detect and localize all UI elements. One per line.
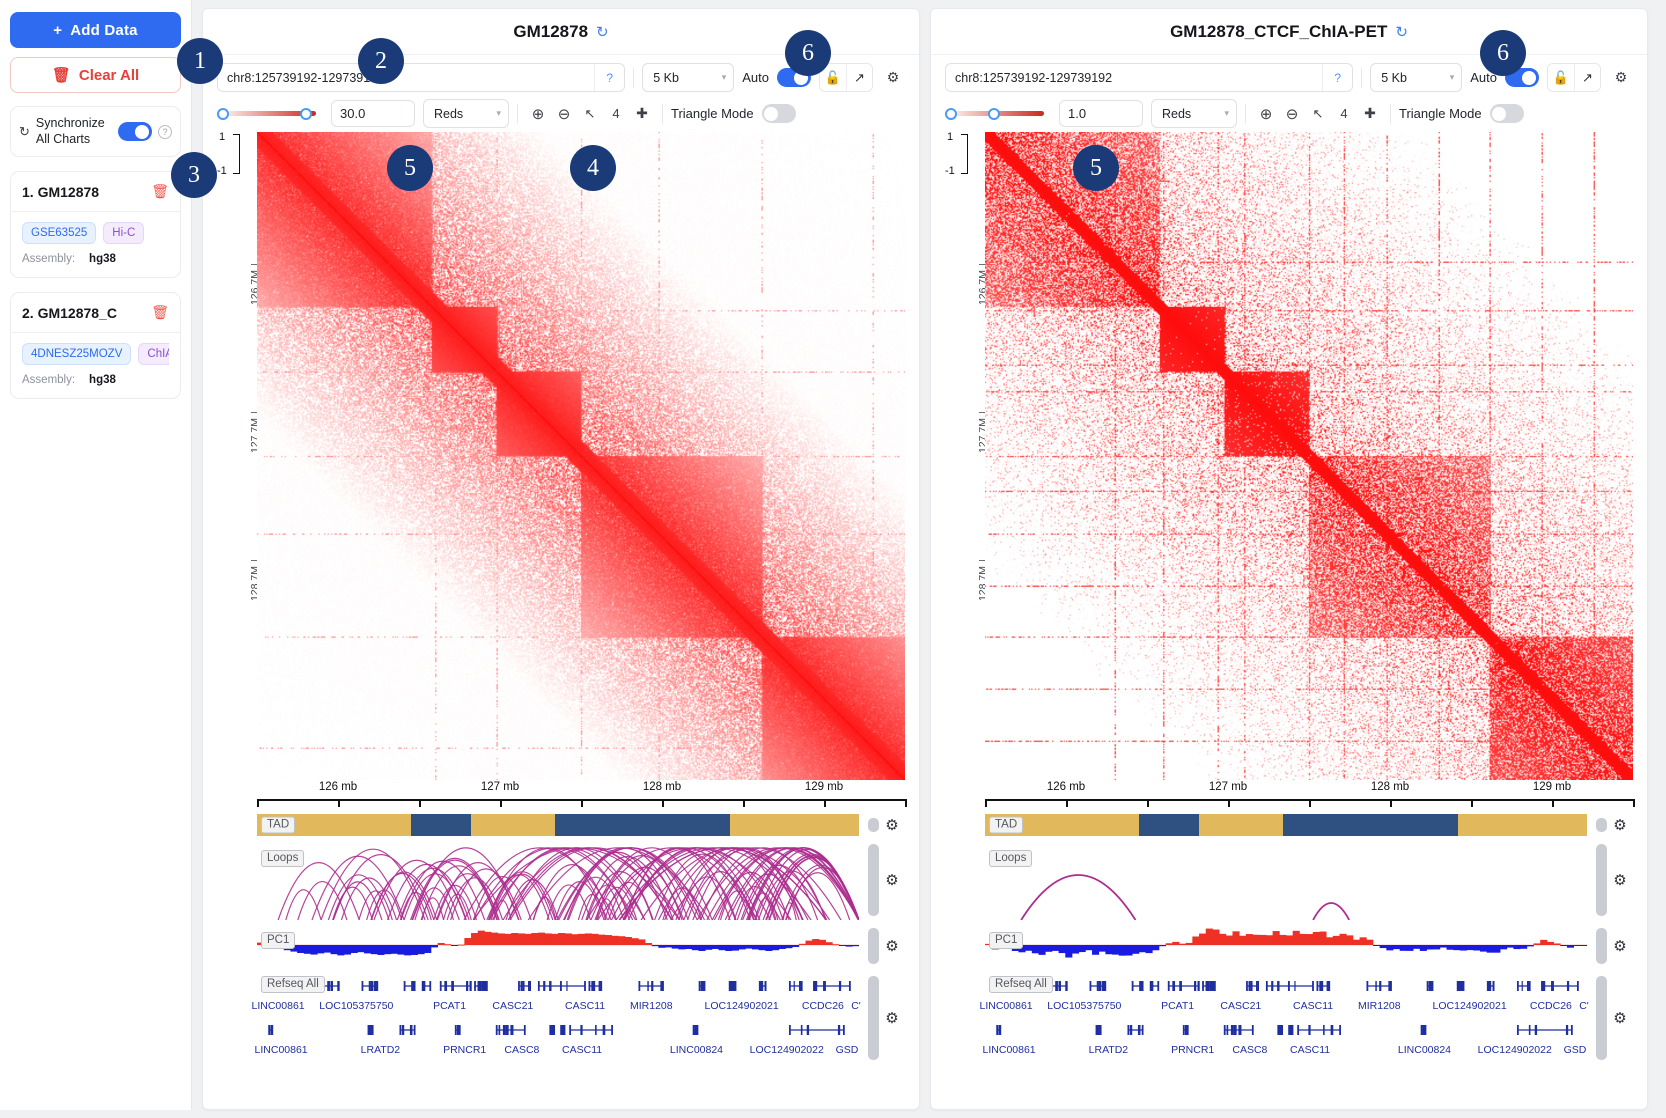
pc1-scale-bracket — [961, 134, 968, 174]
pc1-scale-bracket — [233, 134, 240, 174]
loops-arcs — [257, 840, 859, 920]
pc1-track-label: PC1 — [989, 932, 1023, 949]
x-axis-tick-label: 128 mb — [1371, 781, 1409, 793]
tad-track-label: TAD — [261, 817, 295, 834]
diagonal-arrow-icon[interactable]: ↖ — [578, 101, 602, 127]
gene-label: MIR1208 — [1358, 1000, 1401, 1012]
x-axis-tick-label: 128 mb — [643, 781, 681, 793]
dataset-chip-assay[interactable]: Hi-C — [103, 222, 144, 244]
tad-track[interactable]: TAD — [985, 814, 1587, 836]
gene-label: PCAT1 — [1161, 1000, 1194, 1012]
triangle-mode-toggle[interactable] — [762, 104, 796, 123]
x-axis-tick-label: 129 mb — [1533, 781, 1571, 793]
x-axis-tick-mark — [1309, 799, 1311, 807]
dataset-title: 2. GM12878_C — [22, 305, 117, 321]
contact-matrix-heatmap[interactable] — [985, 132, 1633, 780]
pc1-max-label: 1 — [947, 131, 953, 143]
track-drag-handle[interactable] — [1596, 844, 1607, 916]
add-data-label: Add Data — [70, 22, 137, 39]
sync-label: Synchronize All Charts — [36, 116, 112, 147]
gene-label: CASC21 — [492, 1000, 533, 1012]
zoom-out-icon[interactable]: ⊖ — [552, 101, 576, 127]
tad-track-gear-icon[interactable]: ⚙ — [879, 814, 905, 836]
sidebar: + Add Data 🗑 Clear All ↻ Synchronize All… — [0, 0, 192, 1110]
pc1-track[interactable]: PC1 — [985, 924, 1587, 968]
x-axis-tick-mark — [1552, 799, 1554, 807]
gene-label: C' — [1579, 1000, 1589, 1012]
track-row-pc1: 1 -1 PC1 ⚙ — [945, 924, 1633, 968]
dataset-header: 2. GM12878_C 🗑 — [11, 293, 180, 333]
tad-track-gear-icon[interactable]: ⚙ — [1607, 814, 1633, 836]
track-drag-handle[interactable] — [1596, 818, 1607, 832]
y-axis: 126.7M127.7M128.7M — [217, 132, 257, 780]
dataset-delete-icon[interactable]: 🗑 — [151, 304, 169, 321]
tad-segment — [411, 814, 471, 836]
sync-help-icon[interactable]: ? — [158, 125, 172, 139]
assembly-label: Assembly: — [22, 253, 75, 265]
gene-track-label: Refseq All — [989, 976, 1053, 993]
assembly-row: Assembly: hg38 — [22, 374, 169, 386]
gene-label: LOC124902022 — [1478, 1044, 1552, 1056]
sync-label-line1: Synchronize — [36, 116, 112, 132]
location-field[interactable]: ? — [945, 63, 1353, 92]
gene-label: LINC00861 — [252, 1000, 305, 1012]
sync-icon: ↻ — [19, 124, 30, 140]
resolution-select[interactable]: 5 Kb ▾ — [642, 63, 734, 92]
triangle-mode-label: Triangle Mode — [671, 106, 754, 121]
loops-track[interactable]: Loops — [257, 840, 859, 920]
x-axis-tick-mark — [338, 799, 340, 807]
dataset-body: 4DNESZ25MOZV ChIA Assembly: hg38 — [11, 333, 180, 398]
track-row-tad: TAD ⚙ — [945, 814, 1633, 836]
toolbar-divider — [517, 104, 518, 124]
tad-segments — [985, 814, 1587, 836]
clear-all-label: Clear All — [79, 67, 139, 84]
track-drag-handle[interactable] — [868, 928, 879, 964]
colormap-value: Reds — [1162, 107, 1191, 121]
toolbar-divider — [662, 104, 663, 124]
sync-toggle[interactable] — [118, 122, 152, 141]
gene-label: CASC11 — [565, 1000, 605, 1012]
track-drag-handle[interactable] — [1596, 976, 1607, 1060]
heatmap-row: 126.7M127.7M128.7M — [945, 132, 1633, 780]
dataset-chip-assay[interactable]: ChIA — [138, 343, 169, 365]
track-row-tad: TAD ⚙ — [217, 814, 905, 836]
tad-track[interactable]: TAD — [257, 814, 859, 836]
gene-label: CCDC26 — [1530, 1000, 1572, 1012]
unlock-icon[interactable]: 🔓 — [1548, 64, 1574, 91]
pc1-min-label: -1 — [945, 165, 955, 177]
panel-settings-gear-icon[interactable]: ⚙ — [1609, 65, 1633, 91]
assembly-label: Assembly: — [22, 374, 75, 386]
x-axis-tick-mark — [905, 799, 907, 807]
x-axis-tick-mark — [985, 799, 987, 807]
toolbar-divider — [1245, 104, 1246, 124]
gene-label: LINC00824 — [670, 1044, 723, 1056]
slider-knob-max[interactable] — [300, 108, 312, 120]
zoom-in-icon[interactable]: ⊕ — [526, 101, 550, 127]
chart-panel: GM12878_CTCF_ChIA-PET ↻ ? 5 Kb ▾ Auto 🔓 … — [930, 8, 1648, 1110]
clear-all-button[interactable]: 🗑 Clear All — [10, 57, 181, 93]
zoom-in-icon[interactable]: ⊕ — [1254, 101, 1278, 127]
tad-segment — [1139, 814, 1199, 836]
dataset-card-2: 2. GM12878_C 🗑 4DNESZ25MOZV ChIA Assembl… — [10, 292, 181, 399]
x-axis-tick-label: 129 mb — [805, 781, 843, 793]
tad-segment — [730, 814, 859, 836]
dataset-body: GSE63525 Hi-C Assembly: hg38 — [11, 212, 180, 277]
pc1-track[interactable]: PC1 — [257, 924, 859, 968]
track-drag-handle[interactable] — [1596, 928, 1607, 964]
gene-track[interactable]: Refseq All LINC00861LOC105375750PCAT1CAS… — [985, 972, 1587, 1064]
external-link-icon[interactable]: ↗ — [1574, 64, 1600, 91]
diagonal-arrow-icon[interactable]: ↖ — [1306, 101, 1330, 127]
pc1-scale: 1 -1 — [945, 132, 969, 176]
threshold-slider[interactable] — [945, 108, 1051, 120]
panel-action-group: 🔓 ↗ — [819, 63, 873, 92]
x-axis-tick-label: 126 mb — [1047, 781, 1085, 793]
resolution-value: 5 Kb — [653, 71, 679, 85]
heatmap-row: 126.7M127.7M128.7M — [217, 132, 905, 780]
loops-arcs — [985, 840, 1587, 920]
toolbar-divider — [1361, 68, 1362, 88]
gene-label: LOC124902021 — [1433, 1000, 1507, 1012]
pc1-scale: 1 -1 — [217, 132, 241, 176]
gene-track-label: Refseq All — [261, 976, 325, 993]
assembly-value: hg38 — [89, 253, 116, 265]
trash-icon: 🗑 — [52, 66, 71, 84]
zoom-level-value: 4 — [604, 101, 628, 127]
loops-track-label: Loops — [989, 850, 1032, 867]
gene-label: LINC00824 — [1398, 1044, 1451, 1056]
add-data-button[interactable]: + Add Data — [10, 12, 181, 48]
panel-settings-gear-icon[interactable]: ⚙ — [881, 65, 905, 91]
toolbar-row-display: Reds ▾ ⊕ ⊖ ↖ 4 ✚ Triangle Mode — [945, 99, 1633, 128]
gene-label: GSD — [1564, 1044, 1587, 1056]
gene-label: CASC8 — [504, 1044, 539, 1056]
x-axis-tick-label: 126 mb — [319, 781, 357, 793]
gene-label: CASC11 — [1293, 1000, 1333, 1012]
gene-label: CASC8 — [1232, 1044, 1267, 1056]
x-axis-tick-mark — [1228, 799, 1230, 807]
x-axis-tick-mark — [662, 799, 664, 807]
toolbar-divider — [1390, 104, 1391, 124]
slider-knob-max[interactable] — [988, 108, 1000, 120]
chevron-down-icon: ▾ — [496, 108, 501, 119]
pc1-track-gear-icon[interactable]: ⚙ — [1607, 924, 1633, 968]
chart-area: 126.7M127.7M128.7M 126 mb127 mb128 mb129… — [931, 132, 1647, 1109]
chevron-down-icon: ▾ — [722, 72, 727, 83]
gene-label: LRATD2 — [1089, 1044, 1128, 1056]
panel-title: GM12878 — [513, 22, 588, 42]
triangle-mode-toggle[interactable] — [1490, 104, 1524, 123]
panel-title: GM12878_CTCF_ChIA-PET — [1170, 22, 1387, 42]
contact-matrix-heatmap[interactable] — [257, 132, 905, 780]
loops-track-gear-icon[interactable]: ⚙ — [1607, 840, 1633, 920]
tad-segment — [1458, 814, 1587, 836]
genomic-ruler: 126 mb127 mb128 mb129 mb — [257, 780, 905, 810]
location-help-icon[interactable]: ? — [1322, 64, 1352, 91]
pc1-max-label: 1 — [219, 131, 225, 143]
dataset-delete-icon[interactable]: 🗑 — [151, 183, 169, 200]
assembly-row: Assembly: hg38 — [22, 253, 169, 265]
dataset-title: 1. GM12878 — [22, 184, 99, 200]
gene-track-gear-icon[interactable]: ⚙ — [879, 972, 905, 1064]
track-row-pc1: 1 -1 PC1 ⚙ — [217, 924, 905, 968]
tad-segments — [257, 814, 859, 836]
zoom-out-icon[interactable]: ⊖ — [1280, 101, 1304, 127]
dataset-chips: GSE63525 Hi-C — [22, 222, 169, 244]
chart-panel: GM12878 ↻ ? 5 Kb ▾ Auto 🔓 ↗ ⚙ — [202, 8, 920, 1110]
annotation-badge: 3 — [171, 152, 217, 198]
gene-track[interactable]: Refseq All LINC00861LOC105375750PCAT1CAS… — [257, 972, 859, 1064]
x-axis-tick-mark — [824, 799, 826, 807]
threshold-input[interactable] — [1059, 100, 1143, 127]
gene-label: PRNCR1 — [443, 1044, 486, 1056]
colormap-select[interactable]: Reds ▾ — [1151, 99, 1237, 128]
gene-label: CCDC26 — [802, 1000, 844, 1012]
loops-track[interactable]: Loops — [985, 840, 1587, 920]
gene-label: LOC105375750 — [319, 1000, 393, 1012]
y-axis: 126.7M127.7M128.7M — [945, 132, 985, 780]
track-row-genes: Refseq All LINC00861LOC105375750PCAT1CAS… — [945, 972, 1633, 1064]
zoom-controls: ⊕ ⊖ ↖ 4 ✚ — [1254, 101, 1382, 127]
resolution-select[interactable]: 5 Kb ▾ — [1370, 63, 1462, 92]
gene-label: LINC00861 — [983, 1044, 1036, 1056]
triangle-mode-label: Triangle Mode — [1399, 106, 1482, 121]
dataset-chip-accession[interactable]: 4DNESZ25MOZV — [22, 343, 131, 365]
chart-toolbar: ? 5 Kb ▾ Auto 🔓 ↗ ⚙ Reds — [931, 55, 1647, 132]
dataset-card-1: 1. GM12878 🗑 GSE63525 Hi-C Assembly: hg3… — [10, 171, 181, 278]
gene-label: C' — [851, 1000, 861, 1012]
annotation-badge: 5 — [1073, 145, 1119, 191]
x-axis-tick-mark — [419, 799, 421, 807]
panel-action-group: 🔓 ↗ — [1547, 63, 1601, 92]
plus-icon: + — [53, 22, 62, 39]
x-axis-tick-mark — [1633, 799, 1635, 807]
zoom-level-value: 4 — [1332, 101, 1356, 127]
x-axis-tick-label: 127 mb — [1209, 781, 1247, 793]
x-axis-tick-mark — [743, 799, 745, 807]
gene-track-gear-icon[interactable]: ⚙ — [1607, 972, 1633, 1064]
toolbar-row-location: ? 5 Kb ▾ Auto 🔓 ↗ ⚙ — [945, 63, 1633, 92]
gene-label: PCAT1 — [433, 1000, 466, 1012]
gene-label: PRNCR1 — [1171, 1044, 1214, 1056]
auto-label: Auto — [742, 70, 769, 85]
panel-header: GM12878_CTCF_ChIA-PET ↻ — [931, 9, 1647, 55]
track-row-loops: Loops ⚙ — [945, 840, 1633, 920]
gene-label: CASC21 — [1220, 1000, 1261, 1012]
x-axis-tick-mark — [257, 799, 259, 807]
chart-area: 126.7M127.7M128.7M 126 mb127 mb128 mb129… — [203, 132, 919, 1109]
tad-track-label: TAD — [989, 817, 1023, 834]
location-input[interactable] — [946, 71, 1322, 85]
annotation-badge: 6 — [1480, 30, 1526, 76]
chevron-down-icon: ▾ — [1224, 108, 1229, 119]
slider-knob-min[interactable] — [945, 108, 957, 120]
pc1-min-label: -1 — [217, 165, 227, 177]
pc1-bars — [257, 924, 859, 968]
external-link-icon[interactable]: ↗ — [846, 64, 872, 91]
annotation-badge: 6 — [785, 30, 831, 76]
pc1-bars — [985, 924, 1587, 968]
x-axis-tick-label: 127 mb — [481, 781, 519, 793]
assembly-value: hg38 — [89, 374, 116, 386]
x-axis-tick-mark — [1147, 799, 1149, 807]
slider-knob-min[interactable] — [217, 108, 229, 120]
track-row-loops: Loops ⚙ — [217, 840, 905, 920]
track-row-genes: Refseq All LINC00861LOC105375750PCAT1CAS… — [217, 972, 905, 1064]
annotation-badge: 2 — [358, 38, 404, 84]
gene-label: LOC105375750 — [1047, 1000, 1121, 1012]
gene-label: CASC11 — [562, 1044, 602, 1056]
genomic-ruler: 126 mb127 mb128 mb129 mb — [985, 780, 1633, 810]
dataset-chips: 4DNESZ25MOZV ChIA — [22, 343, 169, 365]
dataset-header: 1. GM12878 🗑 — [11, 172, 180, 212]
gene-label: CASC11 — [1290, 1044, 1330, 1056]
tad-segment — [1283, 814, 1458, 836]
x-axis-tick-mark — [1066, 799, 1068, 807]
zoom-controls: ⊕ ⊖ ↖ 4 ✚ — [526, 101, 654, 127]
synchronize-charts-card: ↻ Synchronize All Charts ? — [10, 106, 181, 157]
gene-label: LINC00861 — [255, 1044, 308, 1056]
sync-label-line2: All Charts — [36, 132, 112, 148]
pc1-track-label: PC1 — [261, 932, 295, 949]
tad-segment — [1199, 814, 1283, 836]
refresh-icon[interactable]: ↻ — [596, 23, 609, 41]
loops-track-label: Loops — [261, 850, 304, 867]
colormap-select[interactable]: Reds ▾ — [423, 99, 509, 128]
pc1-track-gear-icon[interactable]: ⚙ — [879, 924, 905, 968]
gene-label: LOC124902022 — [750, 1044, 824, 1056]
colormap-value: Reds — [434, 107, 463, 121]
gene-label: MIR1208 — [630, 1000, 673, 1012]
track-drag-handle[interactable] — [868, 818, 879, 832]
refresh-icon[interactable]: ↻ — [1395, 23, 1408, 41]
toolbar-divider — [633, 68, 634, 88]
x-axis-tick-mark — [500, 799, 502, 807]
location-help-icon[interactable]: ? — [594, 64, 624, 91]
gene-label: LOC124902021 — [705, 1000, 779, 1012]
app-root: + Add Data 🗑 Clear All ↻ Synchronize All… — [0, 0, 1666, 1118]
x-axis-tick-mark — [1390, 799, 1392, 807]
annotation-badge: 5 — [387, 145, 433, 191]
gene-label: LRATD2 — [361, 1044, 400, 1056]
tad-segment — [555, 814, 730, 836]
loops-track-gear-icon[interactable]: ⚙ — [879, 840, 905, 920]
threshold-slider[interactable] — [217, 108, 323, 120]
crosshair-icon[interactable]: ✚ — [630, 101, 654, 127]
track-drag-handle[interactable] — [868, 976, 879, 1060]
track-drag-handle[interactable] — [868, 844, 879, 916]
chevron-down-icon: ▾ — [1450, 72, 1455, 83]
resolution-value: 5 Kb — [1381, 71, 1407, 85]
x-axis-tick-mark — [1471, 799, 1473, 807]
dataset-chip-accession[interactable]: GSE63525 — [22, 222, 96, 244]
toolbar-row-display: Reds ▾ ⊕ ⊖ ↖ 4 ✚ Triangle Mode — [217, 99, 905, 128]
gene-label: LINC00861 — [980, 1000, 1033, 1012]
threshold-input[interactable] — [331, 100, 415, 127]
annotation-badge: 4 — [570, 145, 616, 191]
location-field[interactable]: ? — [217, 63, 625, 92]
tad-segment — [471, 814, 555, 836]
location-input[interactable] — [218, 71, 594, 85]
crosshair-icon[interactable]: ✚ — [1358, 101, 1382, 127]
gene-label: GSD — [836, 1044, 859, 1056]
annotation-badge: 1 — [177, 38, 223, 84]
x-axis-tick-mark — [581, 799, 583, 807]
